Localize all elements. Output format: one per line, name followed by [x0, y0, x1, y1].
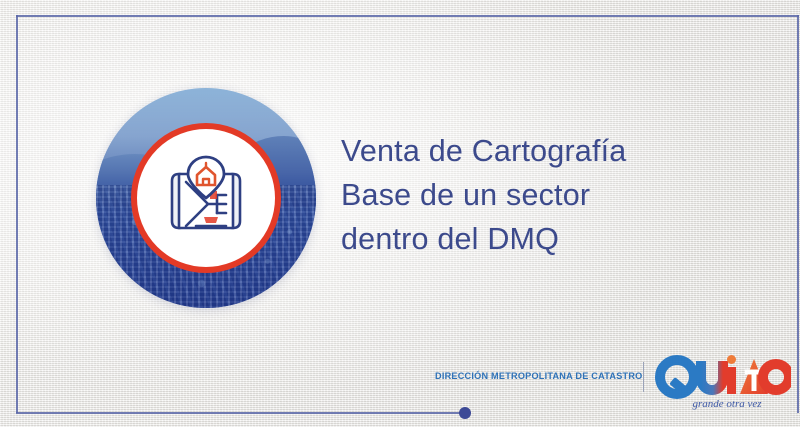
- map-scroll-house-pin-icon: [160, 155, 252, 241]
- frame-accent-dot: [459, 407, 471, 419]
- icon-badge: [131, 123, 281, 273]
- logo-letter-q: [660, 360, 694, 394]
- frame-bottom-border: [16, 412, 465, 414]
- logo-letter-o: [763, 364, 789, 390]
- slide-canvas: Venta de Cartografía Base de un sector d…: [0, 0, 800, 427]
- frame-top-border: [16, 15, 799, 17]
- logo-letter-i: [727, 355, 736, 394]
- footer-divider: [643, 362, 644, 392]
- logo-tagline: grande otra vez: [692, 398, 762, 410]
- department-label: DIRECCIÓN METROPOLITANA DE CATASTRO: [435, 371, 642, 382]
- logo-letter-u: [701, 361, 723, 390]
- quito-logo: grande otra vez: [655, 355, 791, 411]
- frame-left-border: [16, 15, 18, 413]
- hero-circle-image: [96, 88, 316, 308]
- slide-title: Venta de Cartografía Base de un sector d…: [341, 129, 741, 261]
- frame-right-border: [797, 15, 799, 413]
